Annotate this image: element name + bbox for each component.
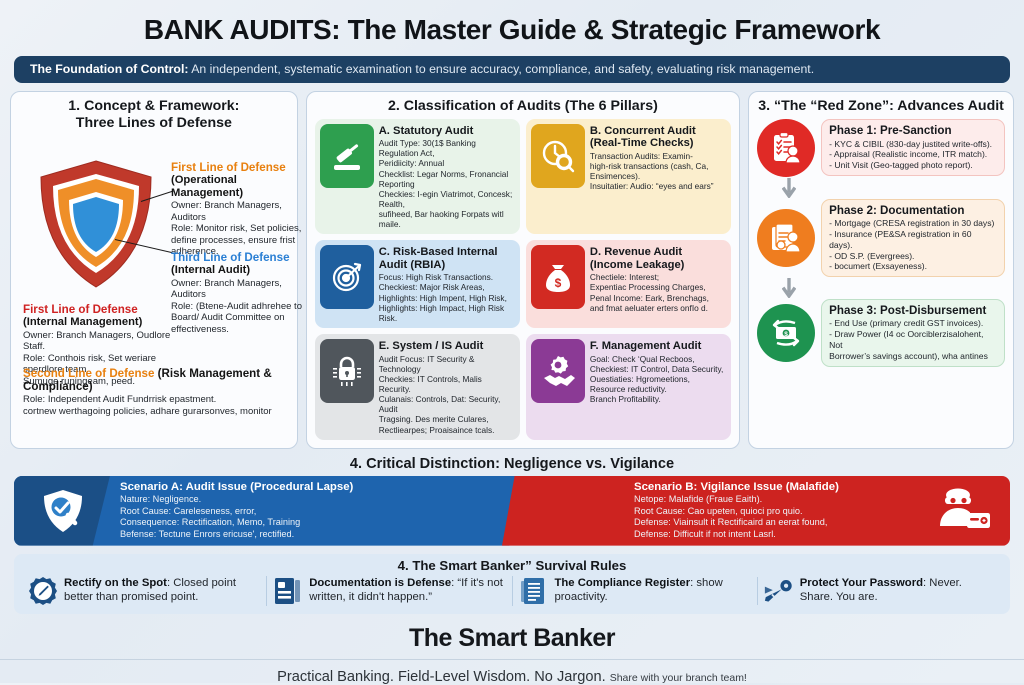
rules-title: 4. The Smart Banker” Survival Rules	[22, 558, 1002, 573]
infographic-page: BANK AUDITS: The Master Guide & Strategi…	[0, 0, 1024, 683]
divider	[0, 659, 1024, 660]
pillar-body: Focus: High Risk Transactions. Checkiest…	[379, 272, 515, 323]
pillar-heading: D. Revenue Audit (Income Leakage)	[590, 246, 709, 271]
scenario-a-panel: Scenario A: Audit Issue (Procedural Laps…	[14, 476, 522, 546]
line-heading: Third Line of Defense	[171, 251, 311, 264]
pillar-text: E. System / IS Audit Audit Focus: IT Sec…	[379, 339, 515, 434]
col3-title: 3. “The “Red Zone”: Advances Audit	[757, 98, 1005, 114]
rule-rectify-on-the-spot: Rectify on the Spot: Closed point better…	[22, 576, 266, 606]
card-classification: 2. Classification of Audits (The 6 Pilla…	[306, 91, 740, 448]
defense-line-first-operational: First Line of Defense (Operational Manag…	[171, 161, 311, 258]
pillar-body: Transaction Audits: Examin- high-risk tr…	[590, 151, 714, 191]
clock-search-icon	[531, 124, 585, 188]
phase-pre-sanction: Phase 1: Pre-Sanction - KYC & CIBIL (ȣ30…	[757, 119, 1005, 177]
rule-bold: The Compliance Register	[555, 577, 691, 589]
card-concept-framework: 1. Concept & Framework: Three Lines of D…	[10, 91, 298, 448]
pillar-system-is-audit: E. System / IS Audit Audit Focus: IT Sec…	[315, 334, 520, 439]
pillar-statutory-audit: A. Statutory Audit Audit Type: 30(1$ Ban…	[315, 119, 520, 235]
pillar-text: B. Concurrent Audit (Real-Time Checks) T…	[590, 124, 714, 230]
rules-list: Rectify on the Spot: Closed point better…	[22, 576, 1002, 606]
tagline: Practical Banking. Field-Level Wisdom. N…	[0, 669, 1024, 685]
col1-title: 1. Concept & Framework: Three Lines of D…	[19, 98, 289, 131]
col2-title: 2. Classification of Audits (The 6 Pilla…	[315, 98, 731, 114]
rule-text: Protect Your Password: Never. Share. You…	[800, 577, 996, 604]
tagline-small: Share with your branch team!	[610, 672, 747, 684]
lock-circuit-icon	[320, 339, 374, 403]
scenario-b-panel: Scenario B: Vigilance Issue (Malafide) N…	[502, 476, 1010, 546]
down-arrow-icon-2	[757, 277, 1005, 299]
rule-text: Rectify on the Spot: Closed point better…	[64, 577, 260, 604]
line-body: Role: Independent Audit Fundrrisk epastm…	[23, 394, 305, 417]
scenario-b-text: Scenario B: Vigilance Issue (Malafide) N…	[634, 476, 1010, 541]
shield-icon	[33, 157, 159, 293]
line-sub: (Internal Audit)	[171, 264, 311, 277]
rule-bold: Protect Your Password	[800, 577, 923, 589]
pillar-text: A. Statutory Audit Audit Type: 30(1$ Ban…	[379, 124, 515, 230]
pillar-heading: F. Management Audit	[590, 340, 723, 353]
key-icon	[764, 577, 794, 605]
scenario-comparison: Scenario A: Audit Issue (Procedural Laps…	[14, 476, 1010, 546]
shield-magnifier-icon	[40, 488, 86, 539]
foundation-text: An independent, systematic examination t…	[188, 62, 814, 76]
line-heading-row: Second Line of Defense (Risk Management …	[23, 367, 305, 393]
phase-body: - KYC & CIBIL (ȣ30-day justited write-of…	[829, 139, 997, 171]
scenario-a-body: Nature: Negligence. Root Cause: Carelese…	[120, 494, 512, 541]
line-heading: First Line of Defense	[23, 303, 183, 316]
cash-cycle-icon: $	[757, 304, 815, 362]
pillar-heading: A. Statutory Audit	[379, 125, 515, 138]
down-arrow-icon-1	[757, 177, 1005, 199]
pillar-heading: E. System / IS Audit	[379, 340, 515, 353]
pillar-management-audit: F. Management Audit Goal: Check ‘Qual Re…	[526, 334, 731, 439]
pillar-heading: B. Concurrent Audit (Real-Time Checks)	[590, 125, 714, 150]
phase-box: Phase 3: Post-Disbursement - End Use (pr…	[821, 299, 1005, 367]
phase-body: - End Use (primary credit GST invoices).…	[829, 318, 997, 361]
rule-bold: Documentation is Defense	[309, 577, 451, 589]
tagline-main: Practical Banking. Field-Level Wisdom. N…	[277, 669, 606, 685]
phase-documentation: Phase 2: Documentation - Mortgage (CRESA…	[757, 199, 1005, 277]
phase-body: - Mortgage (CRESA registration in 30 day…	[829, 218, 997, 272]
phase-heading: Phase 3: Post-Disbursement	[829, 304, 997, 317]
defense-line-second-risk-compliance: Second Line of Defense (Risk Management …	[23, 367, 305, 417]
col1-title-line1: 1. Concept & Framework:	[19, 98, 289, 114]
pillars-grid: A. Statutory Audit Audit Type: 30(1$ Ban…	[315, 119, 731, 440]
rule-text: The Compliance Register: show proactivit…	[555, 577, 751, 604]
target-icon	[320, 245, 374, 309]
line-heading: First Line of Defense	[171, 161, 311, 174]
svg-text:$: $	[555, 276, 562, 290]
pillar-body: Chectiele: Interest; Expentiac Processin…	[590, 272, 709, 312]
documents-stamp-icon	[757, 209, 815, 267]
section4-title: 4. Critical Distinction: Negligence vs. …	[0, 456, 1024, 472]
scenario-b-heading: Scenario B: Vigilance Issue (Malafide)	[634, 481, 1000, 494]
page-title: BANK AUDITS: The Master Guide & Strategi…	[0, 0, 1024, 52]
pillar-body: Audit Type: 30(1$ Banking Regulation Act…	[379, 138, 515, 229]
scenario-b-body: Netope: Malafide (Fraue Eaith). Root Cau…	[634, 494, 1000, 541]
survival-rules-section: 4. The Smart Banker” Survival Rules Rect…	[14, 554, 1010, 614]
document-icon	[273, 576, 303, 606]
phase-heading: Phase 2: Documentation	[829, 204, 997, 217]
pillar-concurrent-audit: B. Concurrent Audit (Real-Time Checks) T…	[526, 119, 731, 235]
foundation-label: The Foundation of Control:	[30, 62, 188, 76]
pillar-revenue-audit: $ D. Revenue Audit (Income Leakage) Chec…	[526, 240, 731, 328]
pillar-text: F. Management Audit Goal: Check ‘Qual Re…	[590, 339, 723, 434]
card-red-zone: 3. “The “Red Zone”: Advances Audit	[748, 91, 1014, 448]
phase-box: Phase 2: Documentation - Mortgage (CRESA…	[821, 199, 1005, 277]
foundation-banner: The Foundation of Control: An independen…	[14, 56, 1010, 83]
rule-bold: Rectify on the Spot	[64, 577, 167, 589]
main-columns: 1. Concept & Framework: Three Lines of D…	[0, 91, 1024, 448]
pillar-body: Goal: Check ‘Qual Recboos, Checkiest: IT…	[590, 354, 723, 405]
rule-compliance-register: The Compliance Register: show proactivit…	[512, 576, 757, 606]
pillar-body: Audit Focus: IT Security & Technology Ch…	[379, 354, 515, 435]
brand-title: The Smart Banker	[0, 624, 1024, 653]
scenario-a-text: Scenario A: Audit Issue (Procedural Laps…	[120, 476, 522, 541]
handshake-gear-icon	[531, 339, 585, 403]
clipboard-person-icon	[757, 119, 815, 177]
pillar-text: C. Risk-Based Internal Audit (RBIA) Focu…	[379, 245, 515, 323]
pencil-seal-icon	[28, 576, 58, 606]
phase-heading: Phase 1: Pre-Sanction	[829, 124, 997, 137]
line-heading: Second Line of Defense	[23, 367, 154, 380]
line-sub: (Operational Management)	[171, 174, 311, 199]
money-bag-icon: $	[531, 245, 585, 309]
pillar-rbia: C. Risk-Based Internal Audit (RBIA) Focu…	[315, 240, 520, 328]
defense-line-third-internal-audit: Third Line of Defense (Internal Audit) O…	[171, 251, 311, 335]
three-lines-diagram: First Line of Defense (Operational Manag…	[19, 135, 289, 423]
register-book-icon	[519, 576, 549, 606]
gavel-icon	[320, 124, 374, 188]
pillar-heading: C. Risk-Based Internal Audit (RBIA)	[379, 246, 515, 271]
rule-protect-your-password: Protect Your Password: Never. Share. You…	[757, 577, 1002, 605]
phase-box: Phase 1: Pre-Sanction - KYC & CIBIL (ȣ30…	[821, 119, 1005, 176]
line-body: Owner: Branch Managers, Auditors Role: (…	[171, 278, 311, 336]
svg-text:$: $	[784, 331, 788, 338]
line-sub: (Internal Management)	[23, 316, 183, 329]
phase-post-disbursement: $ Phase 3: Post-Disbursement - End Use (…	[757, 299, 1005, 367]
pillar-text: D. Revenue Audit (Income Leakage) Checti…	[590, 245, 709, 323]
col1-title-line2: Three Lines of Defense	[19, 115, 289, 131]
scenario-a-heading: Scenario A: Audit Issue (Procedural Laps…	[120, 481, 512, 494]
line-body: Owner: Branch Managers, Auditors Role: M…	[171, 200, 311, 258]
rule-documentation-is-defense: Documentation is Defense: “If it's not w…	[266, 576, 511, 606]
rule-text: Documentation is Defense: “If it's not w…	[309, 577, 505, 604]
